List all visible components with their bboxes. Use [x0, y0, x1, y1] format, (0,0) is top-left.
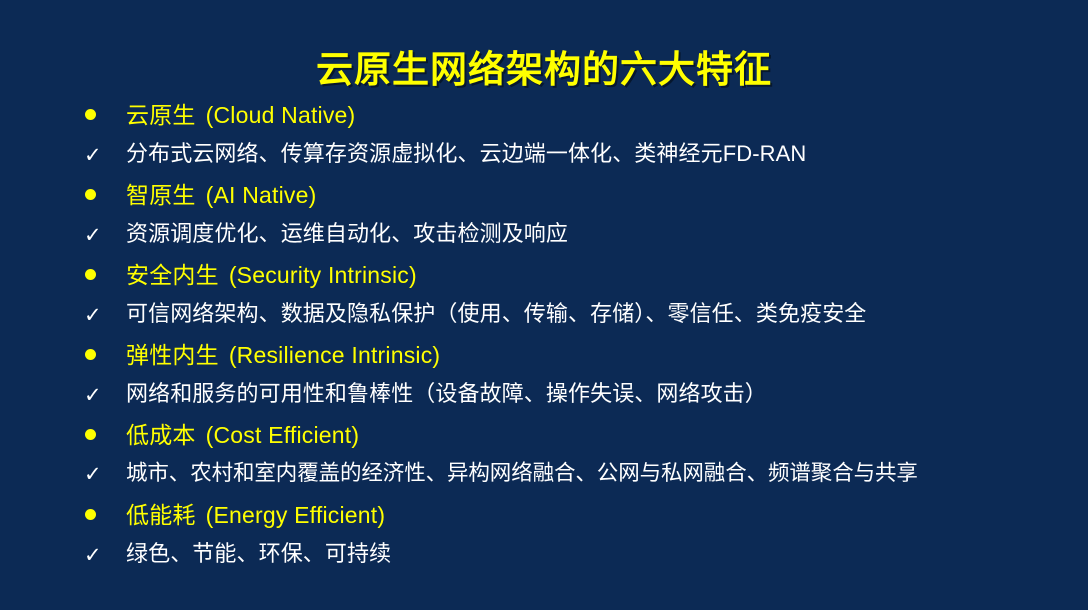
check-mark-icon: ✓ [84, 304, 126, 325]
feature-heading-en: (Cost Efficient) [196, 422, 360, 448]
feature-heading-en: (AI Native) [196, 182, 317, 208]
feature-heading-cn: 云原生 [126, 102, 196, 128]
feature-heading-text: 智原生(AI Native) [126, 176, 1068, 210]
feature-heading-text: 低成本(Cost Efficient) [126, 416, 1068, 450]
feature-heading-cn: 安全内生 [126, 262, 219, 288]
feature-heading-row: 弹性内生(Resilience Intrinsic) [84, 336, 1068, 376]
feature-detail-text: 资源调度优化、运维自动化、攻击检测及响应 [126, 216, 1068, 248]
check-mark-icon: ✓ [84, 384, 126, 405]
feature-heading-row: 低成本(Cost Efficient) [84, 416, 1068, 456]
feature-heading-text: 安全内生(Security Intrinsic) [126, 256, 1068, 290]
feature-detail-row: ✓ 可信网络架构、数据及隐私保护（使用、传输、存储）、零信任、类免疫安全 [84, 296, 1068, 336]
feature-detail-row: ✓ 绿色、节能、环保、可持续 [84, 536, 1068, 576]
feature-heading-row: 智原生(AI Native) [84, 176, 1068, 216]
feature-heading-cn: 低能耗 [126, 502, 196, 528]
feature-heading-text: 弹性内生(Resilience Intrinsic) [126, 336, 1068, 370]
feature-heading-en: (Security Intrinsic) [219, 262, 417, 288]
filled-circle-bullet-icon [84, 511, 126, 527]
feature-heading-en: (Cloud Native) [196, 102, 356, 128]
feature-detail-text: 分布式云网络、传算存资源虚拟化、云边端一体化、类神经元FD-RAN [126, 136, 1068, 168]
feature-heading-row: 低能耗(Energy Efficient) [84, 496, 1068, 536]
feature-detail-text: 网络和服务的可用性和鲁棒性（设备故障、操作失误、网络攻击） [126, 376, 1068, 408]
feature-detail-row: ✓ 网络和服务的可用性和鲁棒性（设备故障、操作失误、网络攻击） [84, 376, 1068, 416]
check-mark-icon: ✓ [84, 463, 126, 484]
feature-heading-en: (Energy Efficient) [196, 502, 386, 528]
feature-heading-text: 低能耗(Energy Efficient) [126, 496, 1068, 530]
feature-heading-text: 云原生(Cloud Native) [126, 96, 1068, 130]
feature-detail-text: 可信网络架构、数据及隐私保护（使用、传输、存储）、零信任、类免疫安全 [126, 296, 1068, 328]
filled-circle-bullet-icon [84, 351, 126, 367]
feature-detail-text: 绿色、节能、环保、可持续 [126, 536, 1068, 568]
filled-circle-bullet-icon [84, 271, 126, 287]
filled-circle-bullet-icon [84, 111, 126, 127]
feature-heading-cn: 智原生 [126, 182, 196, 208]
feature-list: 云原生(Cloud Native) ✓ 分布式云网络、传算存资源虚拟化、云边端一… [84, 96, 1068, 576]
feature-heading-cn: 弹性内生 [126, 342, 219, 368]
feature-heading-row: 安全内生(Security Intrinsic) [84, 256, 1068, 296]
feature-detail-text: 城市、农村和室内覆盖的经济性、异构网络融合、公网与私网融合、频谱聚合与共享 [126, 456, 1068, 487]
feature-detail-row: ✓ 分布式云网络、传算存资源虚拟化、云边端一体化、类神经元FD-RAN [84, 136, 1068, 176]
feature-detail-row: ✓ 城市、农村和室内覆盖的经济性、异构网络融合、公网与私网融合、频谱聚合与共享 [84, 456, 1068, 496]
filled-circle-bullet-icon [84, 191, 126, 207]
page-title: 云原生网络架构的六大特征 [0, 47, 1088, 93]
filled-circle-bullet-icon [84, 431, 126, 447]
slide-canvas: 云原生网络架构的六大特征 云原生(Cloud Native) ✓ 分布式云网络、… [0, 0, 1088, 610]
check-mark-icon: ✓ [84, 544, 126, 565]
check-mark-icon: ✓ [84, 224, 126, 245]
feature-heading-row: 云原生(Cloud Native) [84, 96, 1068, 136]
feature-heading-cn: 低成本 [126, 422, 196, 448]
check-mark-icon: ✓ [84, 144, 126, 165]
feature-detail-row: ✓ 资源调度优化、运维自动化、攻击检测及响应 [84, 216, 1068, 256]
feature-heading-en: (Resilience Intrinsic) [219, 342, 440, 368]
